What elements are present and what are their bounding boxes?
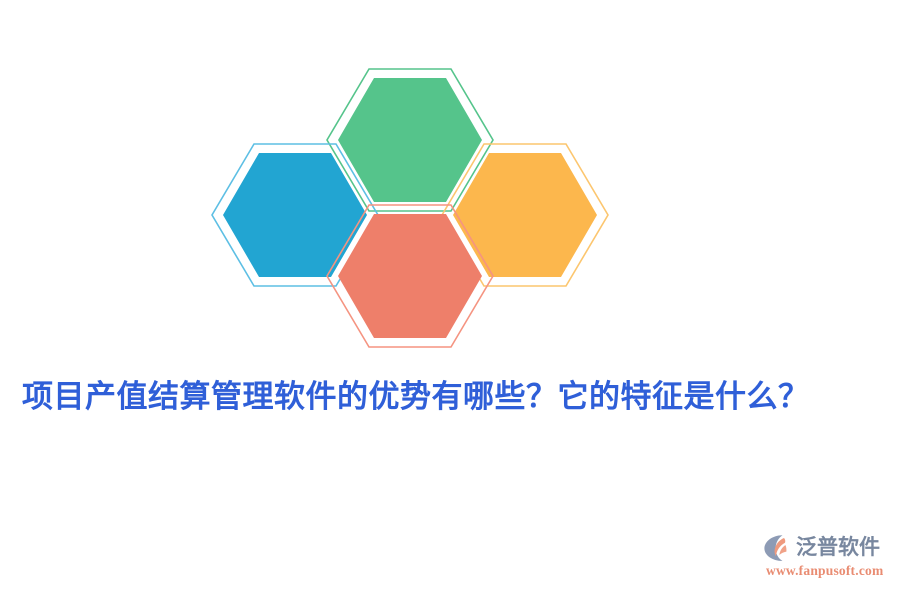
brand-watermark: 泛普软件 www.fanpusoft.com [762,531,894,587]
brand-row: 泛普软件 [762,531,880,565]
brand-name: 泛普软件 [796,533,880,563]
fanpu-c-swoosh-logo-icon [762,533,792,563]
hexagon-salmon-fill [338,214,482,338]
brand-url: www.fanpusoft.com [766,563,883,579]
honeycomb-hexagon-cluster [195,55,615,360]
page-title: 项目产值结算管理软件的优势有哪些？它的特征是什么？ [22,374,878,420]
page-canvas: 项目产值结算管理软件的优势有哪些？它的特征是什么？ 泛普软件 www.fanpu… [0,0,900,600]
